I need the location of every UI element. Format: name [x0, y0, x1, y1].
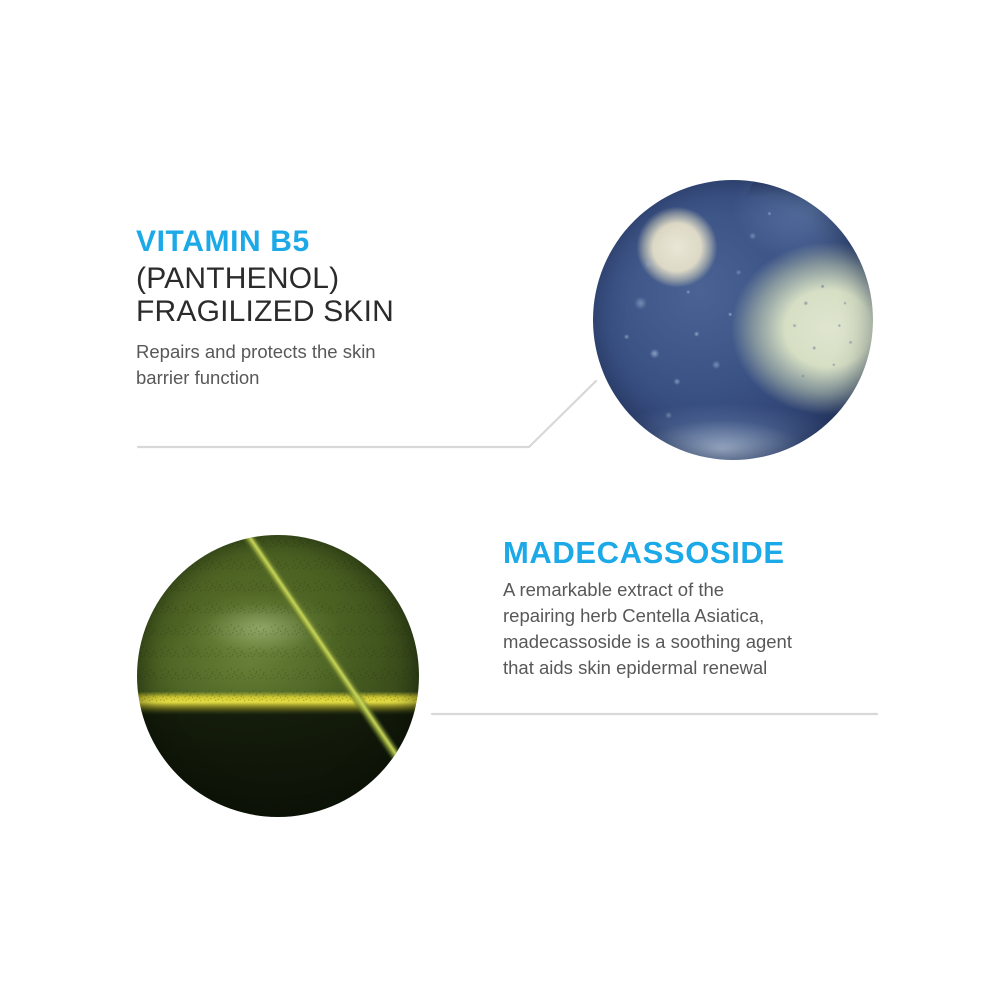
vitamin-b5-headline: (PANTHENOL) FRAGILIZED SKIN [136, 262, 566, 329]
madecassoside-body: A remarkable extract of the repairing he… [503, 577, 923, 682]
vitamin-b5-headline-line-1: (PANTHENOL) [136, 262, 566, 296]
madecassoside-body-line-4: that aids skin epidermal renewal [503, 655, 923, 681]
vitamin-b5-headline-line-2: FRAGILIZED SKIN [136, 295, 566, 329]
vitamin-b5-body-line-1: Repairs and protects the skin [136, 339, 566, 365]
madecassoside-kicker: MADECASSOSIDE [503, 537, 923, 570]
connector-lines [0, 0, 1000, 1000]
infographic-canvas: VITAMIN B5 (PANTHENOL) FRAGILIZED SKIN R… [0, 0, 1000, 1000]
vitamin-b5-body: Repairs and protects the skin barrier fu… [136, 339, 566, 392]
vitamin-b5-body-line-2: barrier function [136, 365, 566, 391]
madecassoside-body-line-1: A remarkable extract of the [503, 577, 923, 603]
vitamin-b5-text-block: VITAMIN B5 (PANTHENOL) FRAGILIZED SKIN R… [136, 226, 566, 391]
vitamin-b5-image [593, 180, 873, 460]
madecassoside-text-block: MADECASSOSIDE A remarkable extract of th… [503, 537, 923, 682]
bubble-speckles [593, 180, 873, 460]
vitamin-b5-kicker: VITAMIN B5 [136, 226, 566, 258]
madecassoside-body-line-3: madecassoside is a soothing agent [503, 629, 923, 655]
madecassoside-image [137, 535, 419, 817]
madecassoside-body-line-2: repairing herb Centella Asiatica, [503, 603, 923, 629]
